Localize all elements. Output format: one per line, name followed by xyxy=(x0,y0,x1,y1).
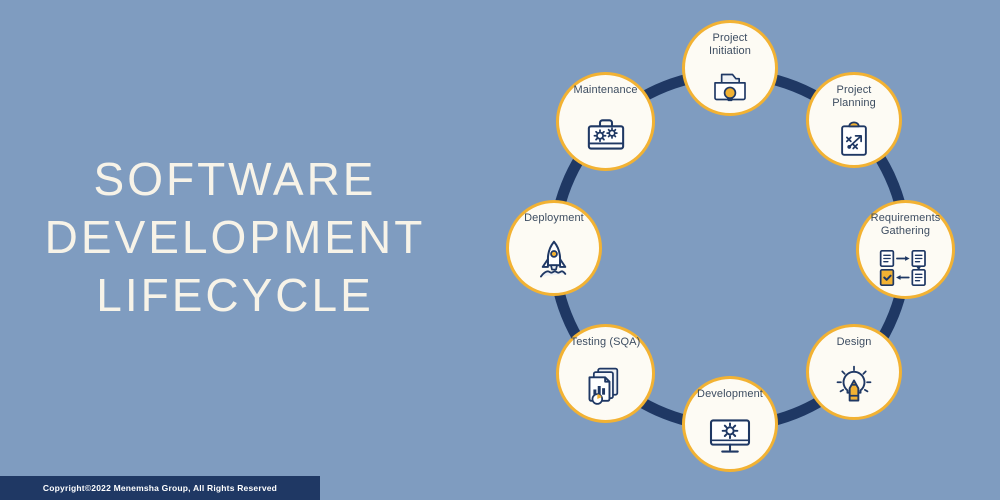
page-title: SOFTWARE DEVELOPMENT LIFECYCLE xyxy=(0,150,470,324)
page-title-line-3: LIFECYCLE xyxy=(0,266,470,324)
cycle-node-testing-sqa[interactable]: Testing (SQA) xyxy=(556,324,655,423)
clipboard-strategy-icon xyxy=(836,112,872,165)
cycle-node-label: Requirements Gathering xyxy=(854,212,958,237)
report-chart-documents-icon xyxy=(586,352,626,421)
cycle-node-maintenance[interactable]: Maintenance xyxy=(556,72,655,171)
footer-copyright-bar: Copyright©2022 Menemsha Group, All Right… xyxy=(0,476,320,500)
cycle-node-label: Project Initiation xyxy=(678,32,782,57)
monitor-gear-icon xyxy=(708,404,752,470)
folder-lightbulb-icon xyxy=(710,60,750,113)
cycle-node-label: Maintenance xyxy=(554,84,658,97)
rocket-launch-icon xyxy=(533,228,575,294)
toolbox-gears-icon xyxy=(585,100,627,169)
sdlc-cycle-diagram: Project Initiation Project Planning xyxy=(480,0,1000,500)
cycle-node-label: Project Planning xyxy=(802,84,906,109)
document-flow-icon xyxy=(877,240,935,296)
copyright-text: Copyright©2022 Menemsha Group, All Right… xyxy=(43,483,277,493)
cycle-node-label: Testing (SQA) xyxy=(554,336,658,349)
cycle-node-label: Design xyxy=(802,336,906,349)
cycle-node-requirements-gathering[interactable]: Requirements Gathering xyxy=(856,200,955,299)
cycle-node-design[interactable]: Design xyxy=(806,324,902,420)
cycle-node-project-initiation[interactable]: Project Initiation xyxy=(682,20,778,116)
cycle-node-deployment[interactable]: Deployment xyxy=(506,200,602,296)
lightbulb-pencil-icon xyxy=(833,352,875,418)
cycle-node-development[interactable]: Development xyxy=(682,376,778,472)
cycle-node-label: Development xyxy=(678,388,782,401)
page-title-line-1: SOFTWARE xyxy=(0,150,470,208)
cycle-node-project-planning[interactable]: Project Planning xyxy=(806,72,902,168)
page-title-line-2: DEVELOPMENT xyxy=(0,208,470,266)
cycle-node-label: Deployment xyxy=(502,212,606,225)
